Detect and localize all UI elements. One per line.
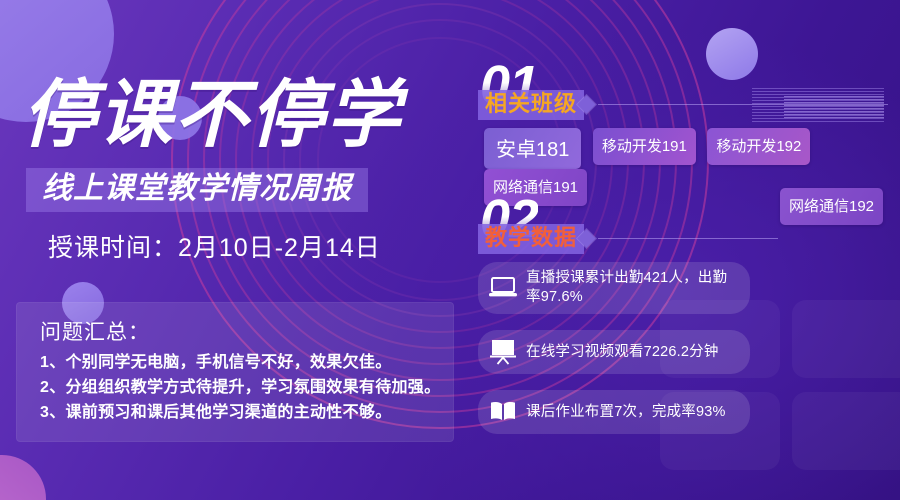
section-01-title: 相关班级 (478, 90, 584, 120)
metric-card[interactable]: 在线学习视频观看7226.2分钟 (478, 330, 750, 374)
section-02: 02 教学数据 (470, 192, 900, 262)
metric-text: 直播授课累计出勤421人，出勤率97.6% (526, 269, 740, 307)
projector-screen-icon (486, 337, 520, 367)
class-chip[interactable]: 移动开发192 (707, 128, 810, 165)
poster-canvas: 停课不停学 线上课堂教学情况周报 授课时间：2月10日-2月14日 问题汇总： … (0, 0, 900, 500)
section-01-rule (598, 104, 888, 105)
metrics-card-list: 直播授课累计出勤421人，出勤率97.6% 在线学习视频观看7226.2分钟 (478, 262, 758, 450)
list-item: 2、分组组织教学方式待提升，学习氛围效果有待加强。 (40, 375, 454, 400)
right-column: 01 相关班级 安卓181 移动开发191 移动开发192 网络通信191 网络… (470, 0, 900, 500)
issues-title: 问题汇总： (16, 302, 454, 350)
left-column: 停课不停学 线上课堂教学情况周报 授课时间：2月10日-2月14日 问题汇总： … (0, 0, 470, 500)
open-book-icon (486, 397, 520, 427)
teaching-time-label: 授课时间：2月10日-2月14日 (48, 228, 381, 264)
poster-subtitle: 线上课堂教学情况周报 (42, 173, 352, 205)
metric-text: 在线学习视频观看7226.2分钟 (526, 343, 719, 362)
poster-headline: 停课不停学 (22, 78, 452, 152)
section-02-rule (598, 238, 778, 239)
issues-list: 1、个别同学无电脑，手机信号不好，效果欠佳。 2、分组组织教学方式待提升，学习氛… (16, 350, 454, 425)
metric-card[interactable]: 直播授课累计出勤421人，出勤率97.6% (478, 262, 750, 314)
metric-text: 课后作业布置7次，完成率93% (526, 403, 726, 422)
poster-subtitle-band: 线上课堂教学情况周报 (26, 168, 368, 212)
laptop-icon (486, 273, 520, 303)
section-01: 01 相关班级 (470, 58, 900, 128)
class-chip[interactable]: 移动开发191 (593, 128, 696, 165)
list-item: 1、个别同学无电脑，手机信号不好，效果欠佳。 (40, 350, 454, 375)
issues-summary-panel: 问题汇总： 1、个别同学无电脑，手机信号不好，效果欠佳。 2、分组组织教学方式待… (16, 302, 454, 442)
list-item: 3、课前预习和课后其他学习渠道的主动性不够。 (40, 400, 454, 425)
metric-card[interactable]: 课后作业布置7次，完成率93% (478, 390, 750, 434)
class-chip[interactable]: 安卓181 (484, 128, 581, 169)
section-02-title: 教学数据 (478, 224, 584, 254)
